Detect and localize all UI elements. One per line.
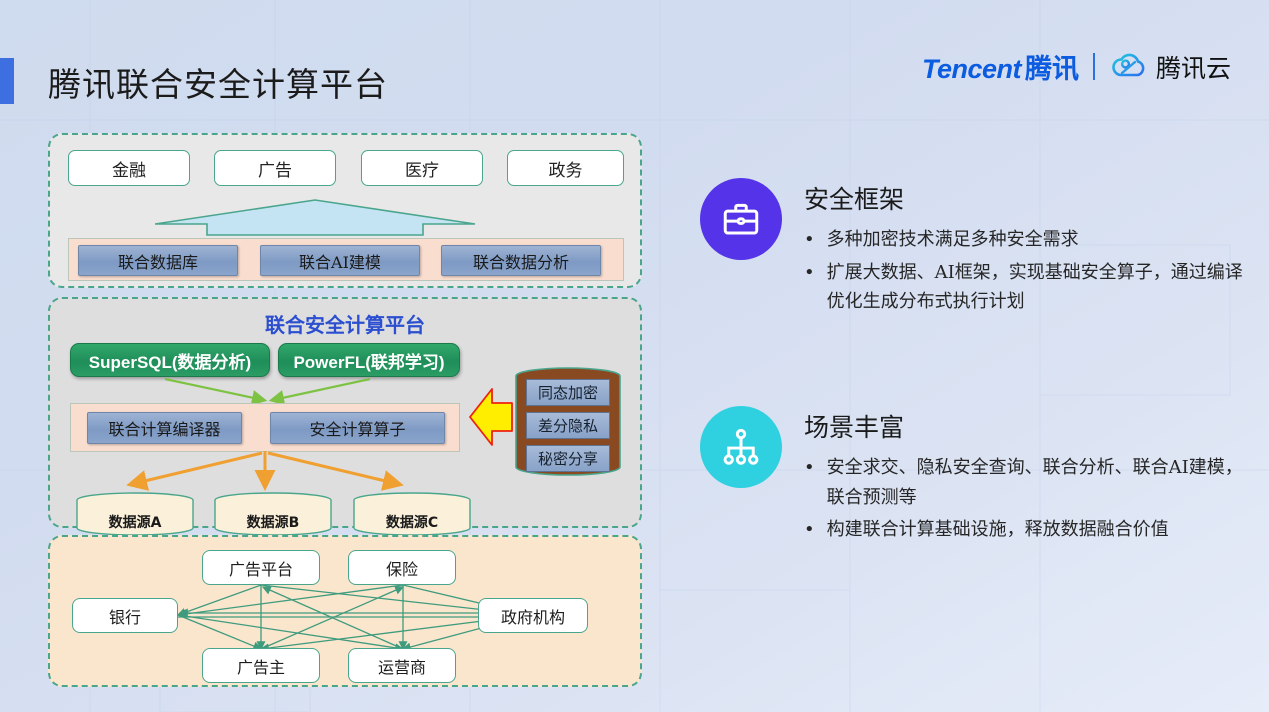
logo-tencent-text: Tencent腾讯 xyxy=(922,47,1079,86)
datasource-a-label: 数据源A xyxy=(74,512,196,532)
page-title: 腾讯联合安全计算平台 xyxy=(48,58,388,106)
platform-title: 联合安全计算平台 xyxy=(50,309,640,338)
network-node-government[interactable]: 政府机构 xyxy=(478,598,588,633)
industry-box-medical[interactable]: 医疗 xyxy=(361,150,483,186)
bullet-dot-icon: • xyxy=(804,453,815,512)
datasource-b[interactable]: 数据源B xyxy=(212,492,334,536)
bullet-dot-icon: • xyxy=(804,225,815,255)
feature-security-heading: 安全框架 xyxy=(804,180,1245,216)
bullet-text: 构建联合计算基础设施，释放数据融合价值 xyxy=(827,515,1169,545)
feature-scenarios-body: 场景丰富 • 安全求交、隐私安全查询、联合分析、联合AI建模，联合预测等 • 构… xyxy=(804,406,1245,548)
tencent-logo: Tencent腾讯 腾讯云 xyxy=(922,47,1231,86)
component-box-operator[interactable]: 安全计算算子 xyxy=(270,412,445,444)
engine-supersql[interactable]: SuperSQL(数据分析) xyxy=(70,343,270,377)
title-accent-bar xyxy=(0,58,14,104)
feature-scenarios-heading: 场景丰富 xyxy=(804,408,1245,444)
briefcase-icon-circle xyxy=(700,178,782,260)
bullet-text: 安全求交、隐私安全查询、联合分析、联合AI建模，联合预测等 xyxy=(827,453,1245,512)
crypto-stack: 同态加密 差分隐私 秘密分享 xyxy=(512,367,624,477)
feature-security-body: 安全框架 • 多种加密技术满足多种安全需求 • 扩展大数据、AI框架，实现基础安… xyxy=(804,178,1245,320)
datasource-c[interactable]: 数据源C xyxy=(351,492,473,536)
logo-divider xyxy=(1093,53,1095,80)
logo-brand-cn: 腾讯 xyxy=(1025,54,1079,84)
capability-box-ai[interactable]: 联合AI建模 xyxy=(260,245,420,276)
datasource-c-label: 数据源C xyxy=(351,512,473,532)
network-node-operator[interactable]: 运营商 xyxy=(348,648,456,683)
logo-cloud-text: 腾讯云 xyxy=(1156,49,1231,85)
feature-scenarios-bullet-2: • 构建联合计算基础设施，释放数据融合价值 xyxy=(804,515,1245,545)
engine-powerfl[interactable]: PowerFL(联邦学习) xyxy=(278,343,460,377)
network-panel: 广告平台 保险 银行 政府机构 广告主 运营商 xyxy=(48,535,642,687)
bullet-text: 多种加密技术满足多种安全需求 xyxy=(827,225,1079,255)
capability-box-db[interactable]: 联合数据库 xyxy=(78,245,238,276)
logo-brand-en: Tencent xyxy=(922,54,1021,84)
component-box-compiler[interactable]: 联合计算编译器 xyxy=(87,412,242,444)
network-node-advertiser[interactable]: 广告主 xyxy=(202,648,320,683)
platform-panel: 联合安全计算平台 SuperSQL(数据分析) PowerFL(联邦学习) 联合… xyxy=(48,297,642,528)
capability-band: 联合数据库 联合AI建模 联合数据分析 xyxy=(68,238,624,281)
crypto-box-secret-sharing[interactable]: 秘密分享 xyxy=(526,445,610,472)
network-node-bank[interactable]: 银行 xyxy=(72,598,178,633)
bullet-text: 扩展大数据、AI框架，实现基础安全算子，通过编译优化生成分布式执行计划 xyxy=(827,258,1245,317)
capability-box-analysis[interactable]: 联合数据分析 xyxy=(441,245,601,276)
datasource-b-label: 数据源B xyxy=(212,512,334,532)
network-node-insurance[interactable]: 保险 xyxy=(348,550,456,585)
hierarchy-icon-circle xyxy=(700,406,782,488)
feature-security-bullet-2: • 扩展大数据、AI框架，实现基础安全算子，通过编译优化生成分布式执行计划 xyxy=(804,258,1245,317)
industry-box-government[interactable]: 政务 xyxy=(507,150,624,186)
datasource-arrows xyxy=(70,451,460,493)
component-band: 联合计算编译器 安全计算算子 xyxy=(70,403,460,452)
tencent-cloud-logo: 腾讯云 xyxy=(1109,49,1231,85)
bullet-dot-icon: • xyxy=(804,258,815,317)
feature-security-framework: 安全框架 • 多种加密技术满足多种安全需求 • 扩展大数据、AI框架，实现基础安… xyxy=(700,178,1245,320)
feature-rich-scenarios: 场景丰富 • 安全求交、隐私安全查询、联合分析、联合AI建模，联合预测等 • 构… xyxy=(700,406,1245,548)
industry-box-advertising[interactable]: 广告 xyxy=(214,150,336,186)
datasource-a[interactable]: 数据源A xyxy=(74,492,196,536)
bullet-dot-icon: • xyxy=(804,515,815,545)
left-arrow-icon xyxy=(468,381,514,453)
industry-panel: 金融 广告 医疗 政务 联合数据库 联合AI建模 联合数据分析 xyxy=(48,133,642,288)
network-node-ad-platform[interactable]: 广告平台 xyxy=(202,550,320,585)
cloud-icon xyxy=(1109,53,1149,81)
briefcase-icon xyxy=(720,198,762,240)
feature-scenarios-bullet-1: • 安全求交、隐私安全查询、联合分析、联合AI建模，联合预测等 xyxy=(804,453,1245,512)
feature-security-bullet-1: • 多种加密技术满足多种安全需求 xyxy=(804,225,1245,255)
crypto-box-homomorphic[interactable]: 同态加密 xyxy=(526,379,610,406)
crypto-box-differential[interactable]: 差分隐私 xyxy=(526,412,610,439)
hierarchy-icon xyxy=(720,426,762,468)
industry-box-finance[interactable]: 金融 xyxy=(68,150,190,186)
up-arrow-icon xyxy=(155,190,515,236)
